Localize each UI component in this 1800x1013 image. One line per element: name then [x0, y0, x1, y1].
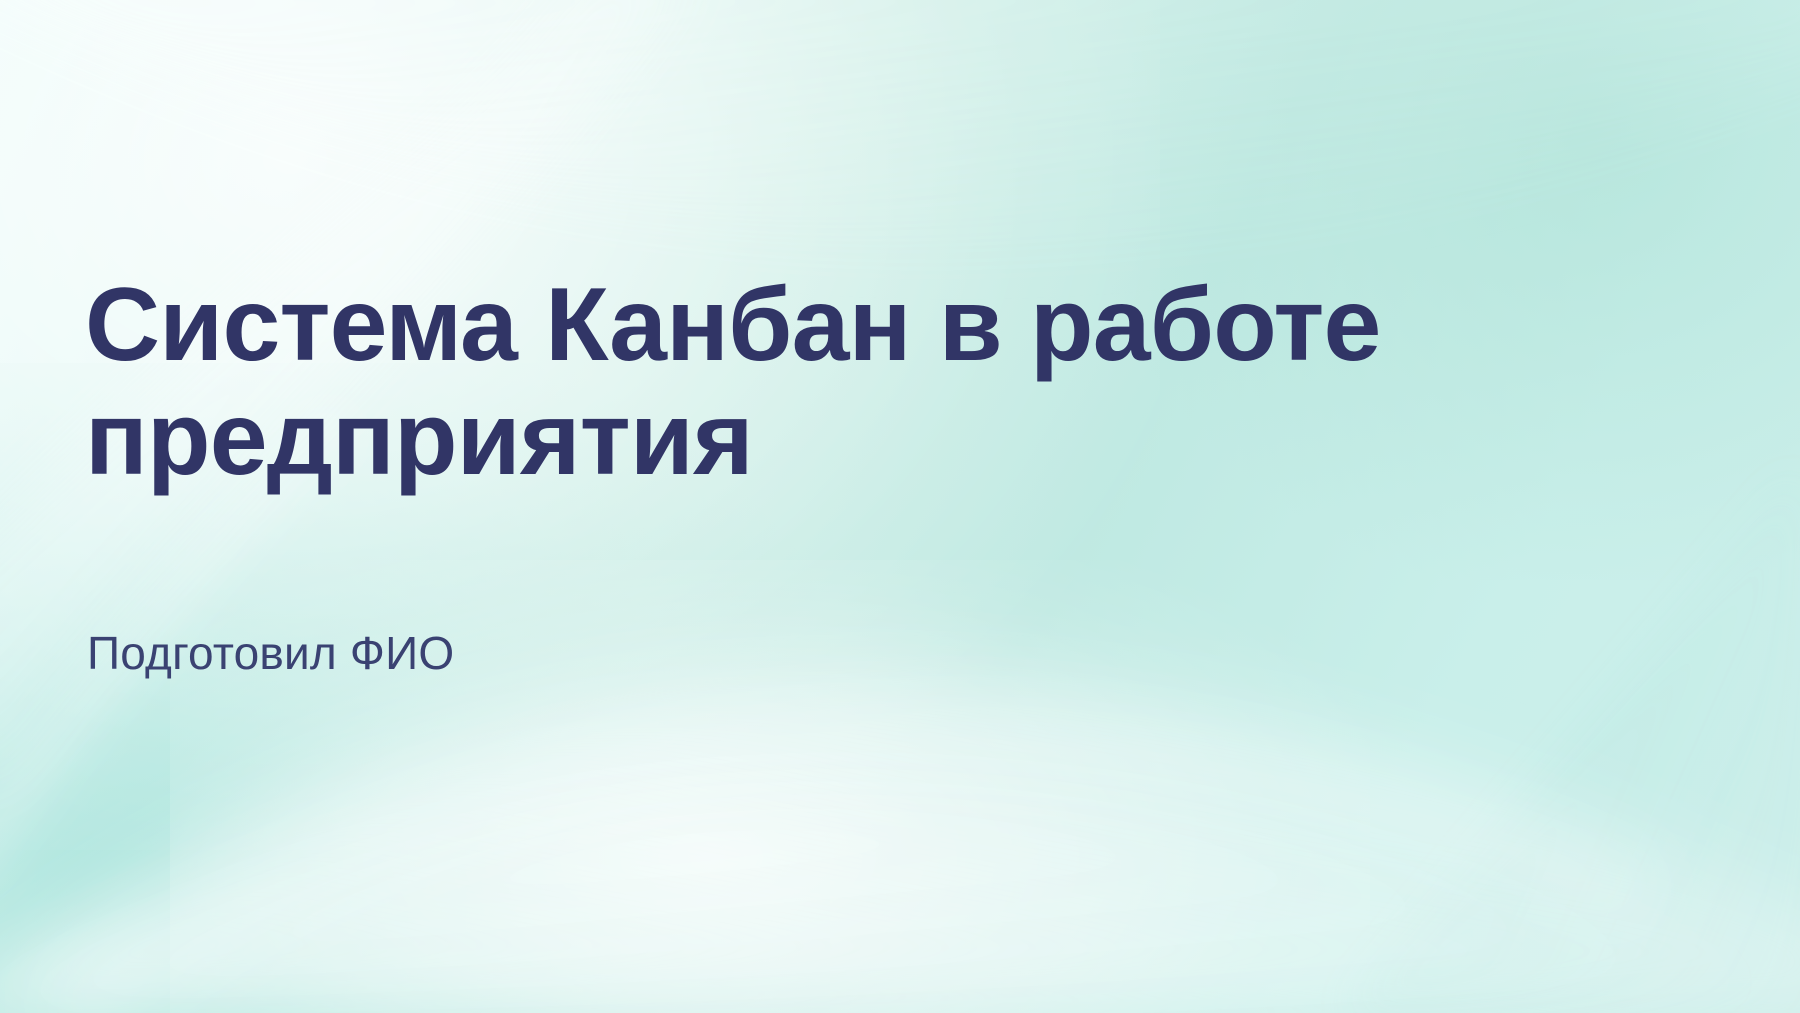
slide-subtitle-author: Подготовил ФИО [87, 625, 454, 681]
page-title: Система Канбан в работе предприятия [85, 268, 1725, 496]
title-slide: Система Канбан в работе предприятия Подг… [0, 0, 1800, 1013]
slide-content: Система Канбан в работе предприятия Подг… [85, 0, 1735, 1013]
